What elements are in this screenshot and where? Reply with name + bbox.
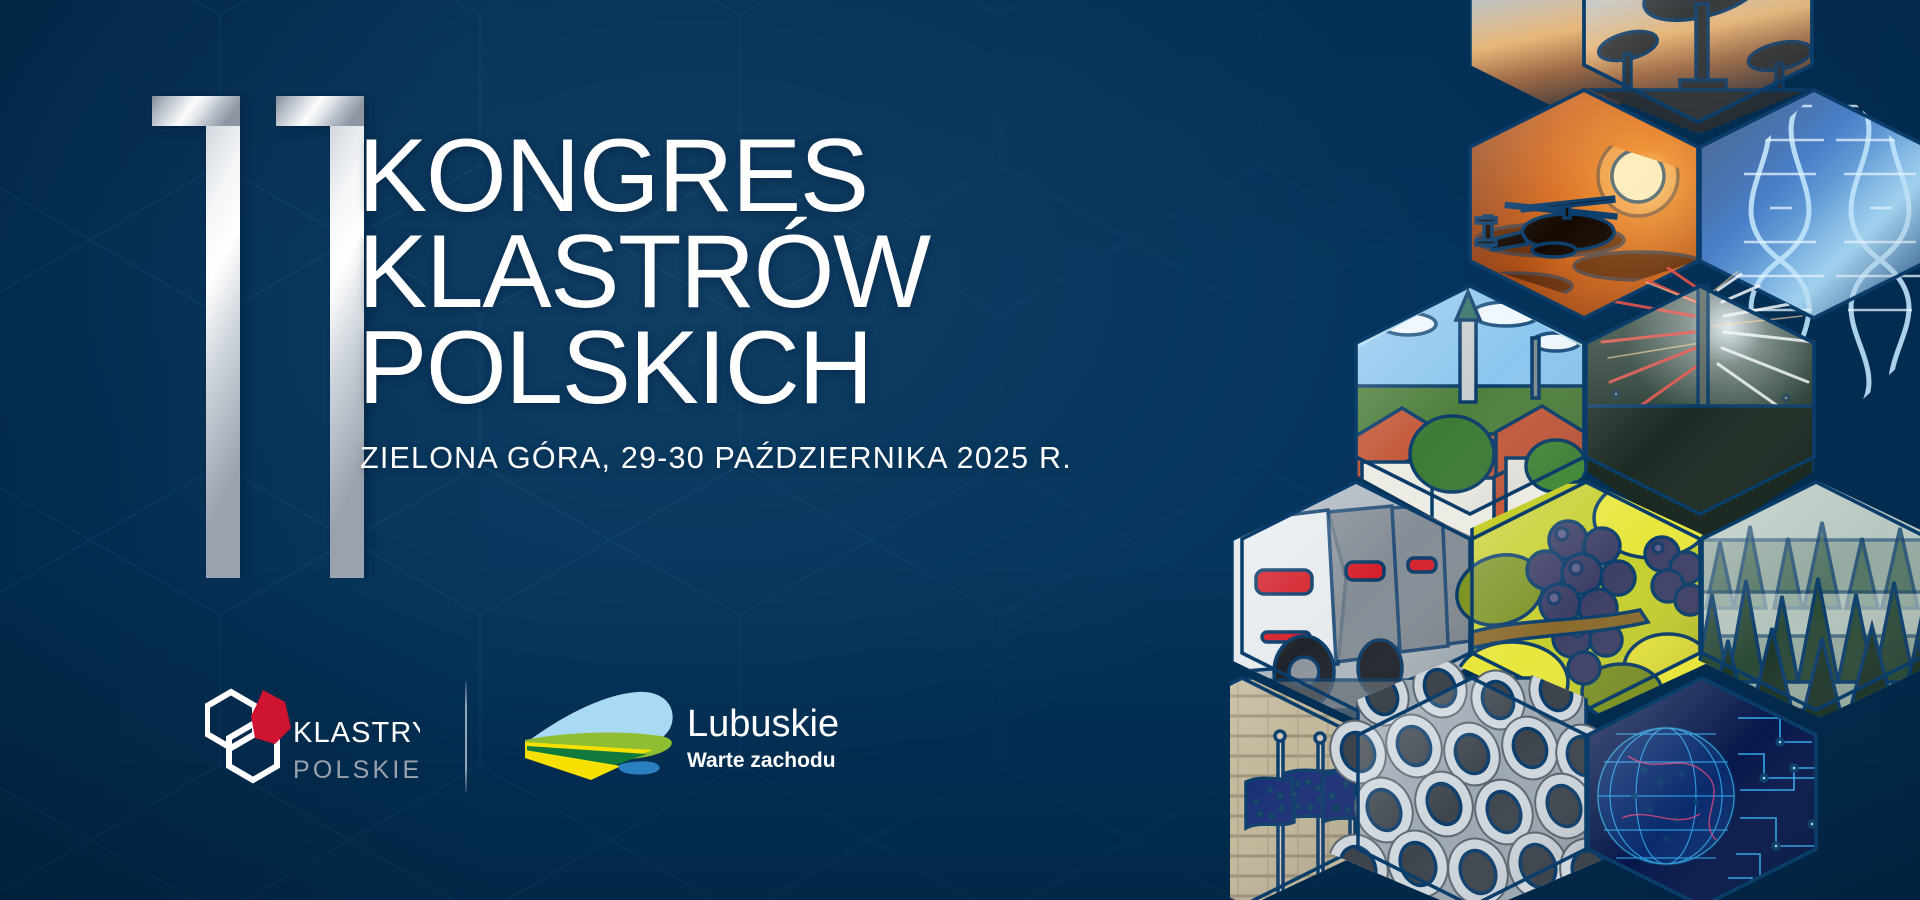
title-line-1: KONGRES	[358, 128, 1138, 224]
title-line-2: KLASTRÓW	[358, 224, 1138, 320]
edition-number-11	[140, 78, 390, 578]
lubuskie-wordmark: Lubuskie	[687, 703, 839, 745]
hex-tile-helicopter-sunset	[1456, 90, 1706, 318]
title-line-3: POLSKICH	[358, 320, 1138, 416]
landscape-swoosh-icon	[525, 692, 673, 780]
event-date-location: ZIELONA GÓRA, 29-30 PAŹDZIERNIKA 2025 R.	[360, 441, 1072, 476]
lubuskie-logo[interactable]: Lubuskie Warte zachodu	[525, 684, 845, 796]
hex-tile-digital-globe	[1588, 678, 1816, 900]
klastry-wordmark: KLASTRY	[293, 717, 420, 749]
lubuskie-tagline: Warte zachodu	[687, 749, 836, 772]
event-title: KONGRES KLASTRÓW POLSKICH	[358, 128, 1138, 416]
polskie-wordmark: POLSKIE	[293, 756, 420, 784]
hexagon-cluster-icon	[207, 690, 291, 780]
hexagon-photo-collage	[1230, 0, 1920, 900]
logo-divider	[465, 682, 467, 792]
klastry-polskie-logo[interactable]: KLASTRY POLSKIE	[205, 686, 420, 796]
congress-banner: KONGRES KLASTRÓW POLSKICH ZIELONA GÓRA, …	[0, 0, 1920, 900]
